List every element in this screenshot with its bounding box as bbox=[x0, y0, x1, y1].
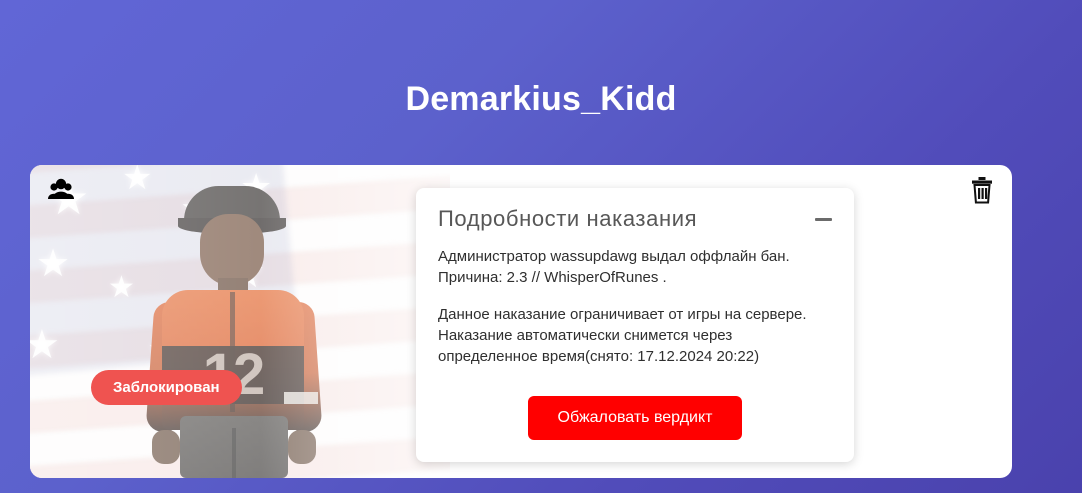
flag-overlay-wash bbox=[30, 165, 450, 478]
friends-group-icon[interactable] bbox=[46, 177, 76, 203]
punishment-details-panel: Подробности наказания Администратор wass… bbox=[416, 188, 854, 462]
punishment-details-body: Администратор wassupdawg выдал оффлайн б… bbox=[438, 246, 832, 367]
profile-card: ★ ★ ★ ★ ★ ★ ★ ★ ★ ★ 12 bbox=[30, 165, 1012, 478]
avatar-artwork: ★ ★ ★ ★ ★ ★ ★ ★ ★ ★ 12 bbox=[30, 165, 450, 478]
minus-icon[interactable] bbox=[814, 210, 832, 228]
punishment-reason-text: Администратор wassupdawg выдал оффлайн б… bbox=[438, 246, 832, 288]
status-badge: Заблокирован bbox=[91, 370, 242, 405]
trash-icon[interactable] bbox=[970, 176, 994, 204]
page-title: Demarkius_Kidd bbox=[0, 80, 1082, 119]
appeal-button-row: Обжаловать вердикт bbox=[416, 396, 854, 440]
appeal-verdict-button[interactable]: Обжаловать вердикт bbox=[528, 396, 743, 440]
punishment-duration-text: Данное наказание ограничивает от игры на… bbox=[438, 304, 832, 367]
minus-icon-bar bbox=[815, 218, 832, 221]
punishment-details-header: Подробности наказания bbox=[438, 206, 832, 232]
punishment-details-title: Подробности наказания bbox=[438, 206, 697, 232]
